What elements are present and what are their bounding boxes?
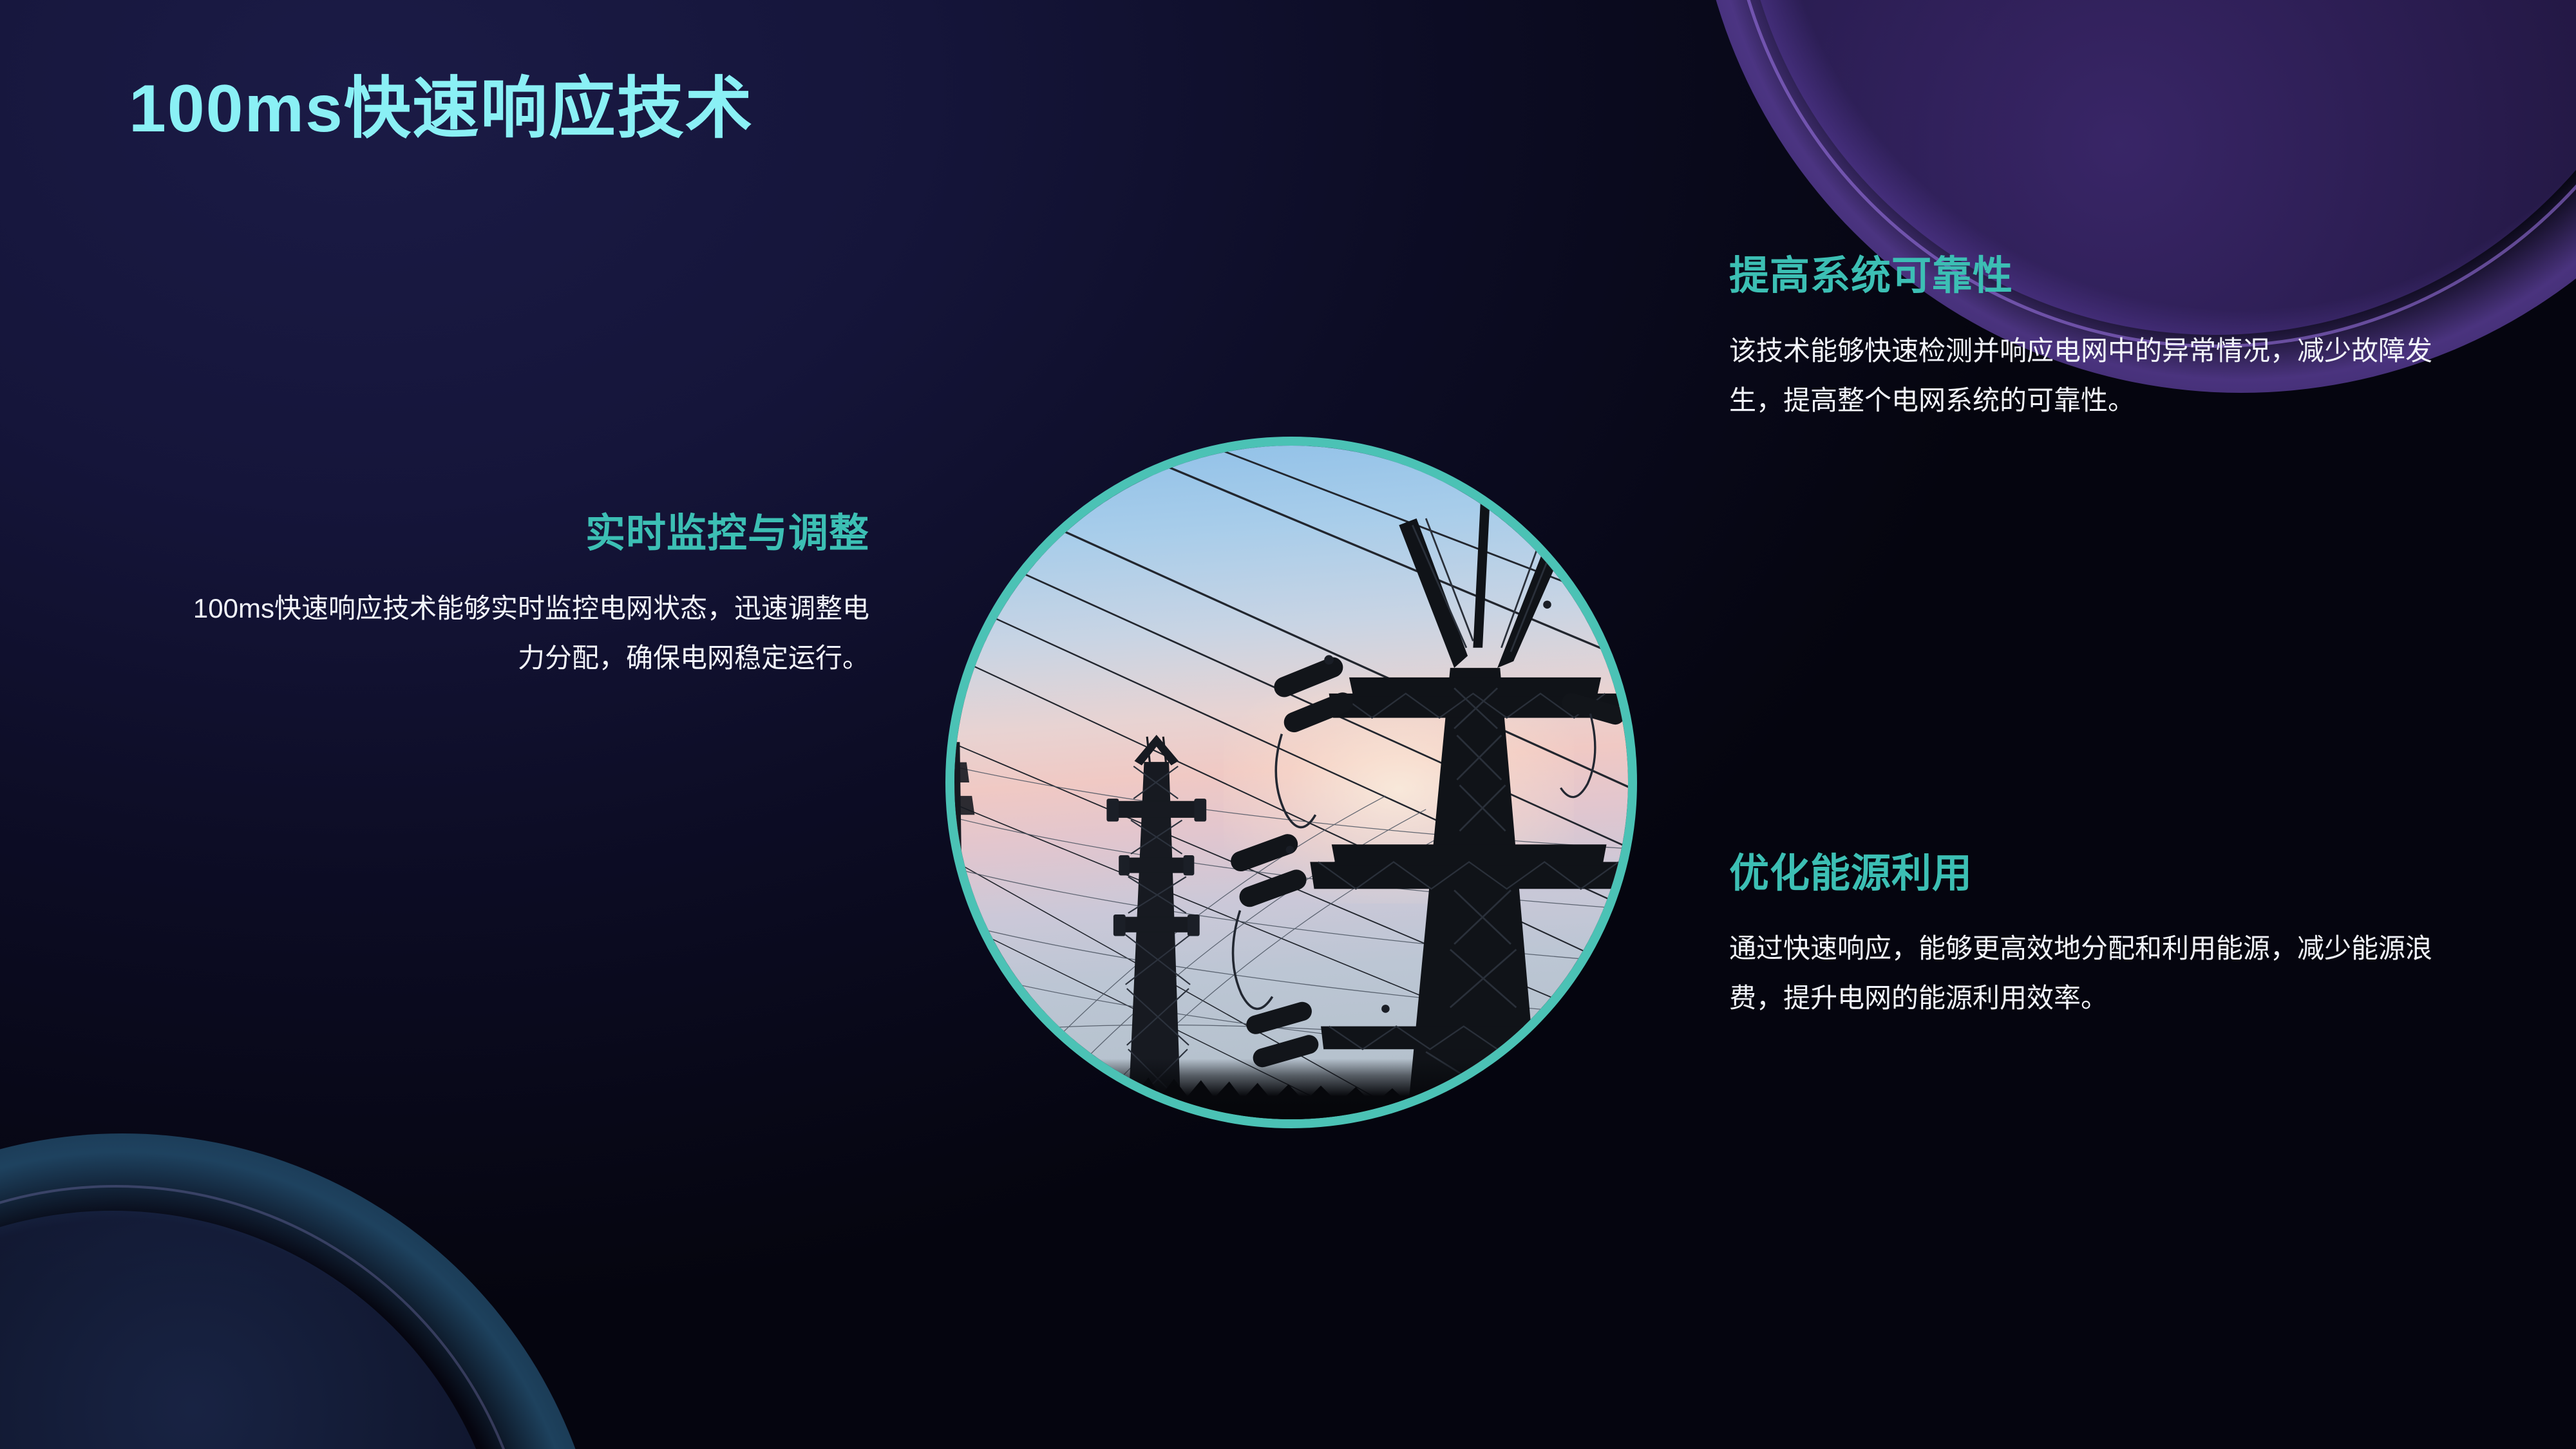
decorative-ring-bottom-left-outline: [0, 1185, 535, 1449]
feature-body-realtime-monitoring: 100ms快速响应技术能够实时监控电网状态，迅速调整电力分配，确保电网稳定运行。: [180, 583, 869, 683]
transmission-tower-illustration: [954, 446, 1628, 1119]
decorative-ring-bottom-left: [0, 1133, 605, 1449]
feature-block-energy-optimization: 优化能源利用 通过快速响应，能够更高效地分配和利用能源，减少能源浪费，提升电网的…: [1729, 849, 2483, 1023]
feature-block-system-reliability: 提高系统可靠性 该技术能够快速检测并响应电网中的异常情况，减少故障发生，提高整个…: [1729, 251, 2483, 426]
power-grid-photo: [945, 437, 1637, 1128]
feature-body-system-reliability: 该技术能够快速检测并响应电网中的异常情况，减少故障发生，提高整个电网系统的可靠性…: [1729, 326, 2483, 426]
decorative-ring-bottom-left-fill: [0, 1211, 509, 1449]
slide-canvas: 100ms快速响应技术 实时监控与调整 100ms快速响应技术能够实时监控电网状…: [0, 0, 2576, 1449]
page-title: 100ms快速响应技术: [129, 72, 753, 146]
power-grid-photo-inner: [954, 446, 1628, 1119]
feature-heading-energy-optimization: 优化能源利用: [1729, 849, 2483, 899]
feature-heading-realtime-monitoring: 实时监控与调整: [180, 509, 869, 559]
feature-block-realtime-monitoring: 实时监控与调整 100ms快速响应技术能够实时监控电网状态，迅速调整电力分配，确…: [180, 509, 869, 683]
feature-body-energy-optimization: 通过快速响应，能够更高效地分配和利用能源，减少能源浪费，提升电网的能源利用效率。: [1729, 923, 2483, 1023]
ground-shadow: [954, 1059, 1628, 1119]
feature-heading-system-reliability: 提高系统可靠性: [1729, 251, 2483, 301]
